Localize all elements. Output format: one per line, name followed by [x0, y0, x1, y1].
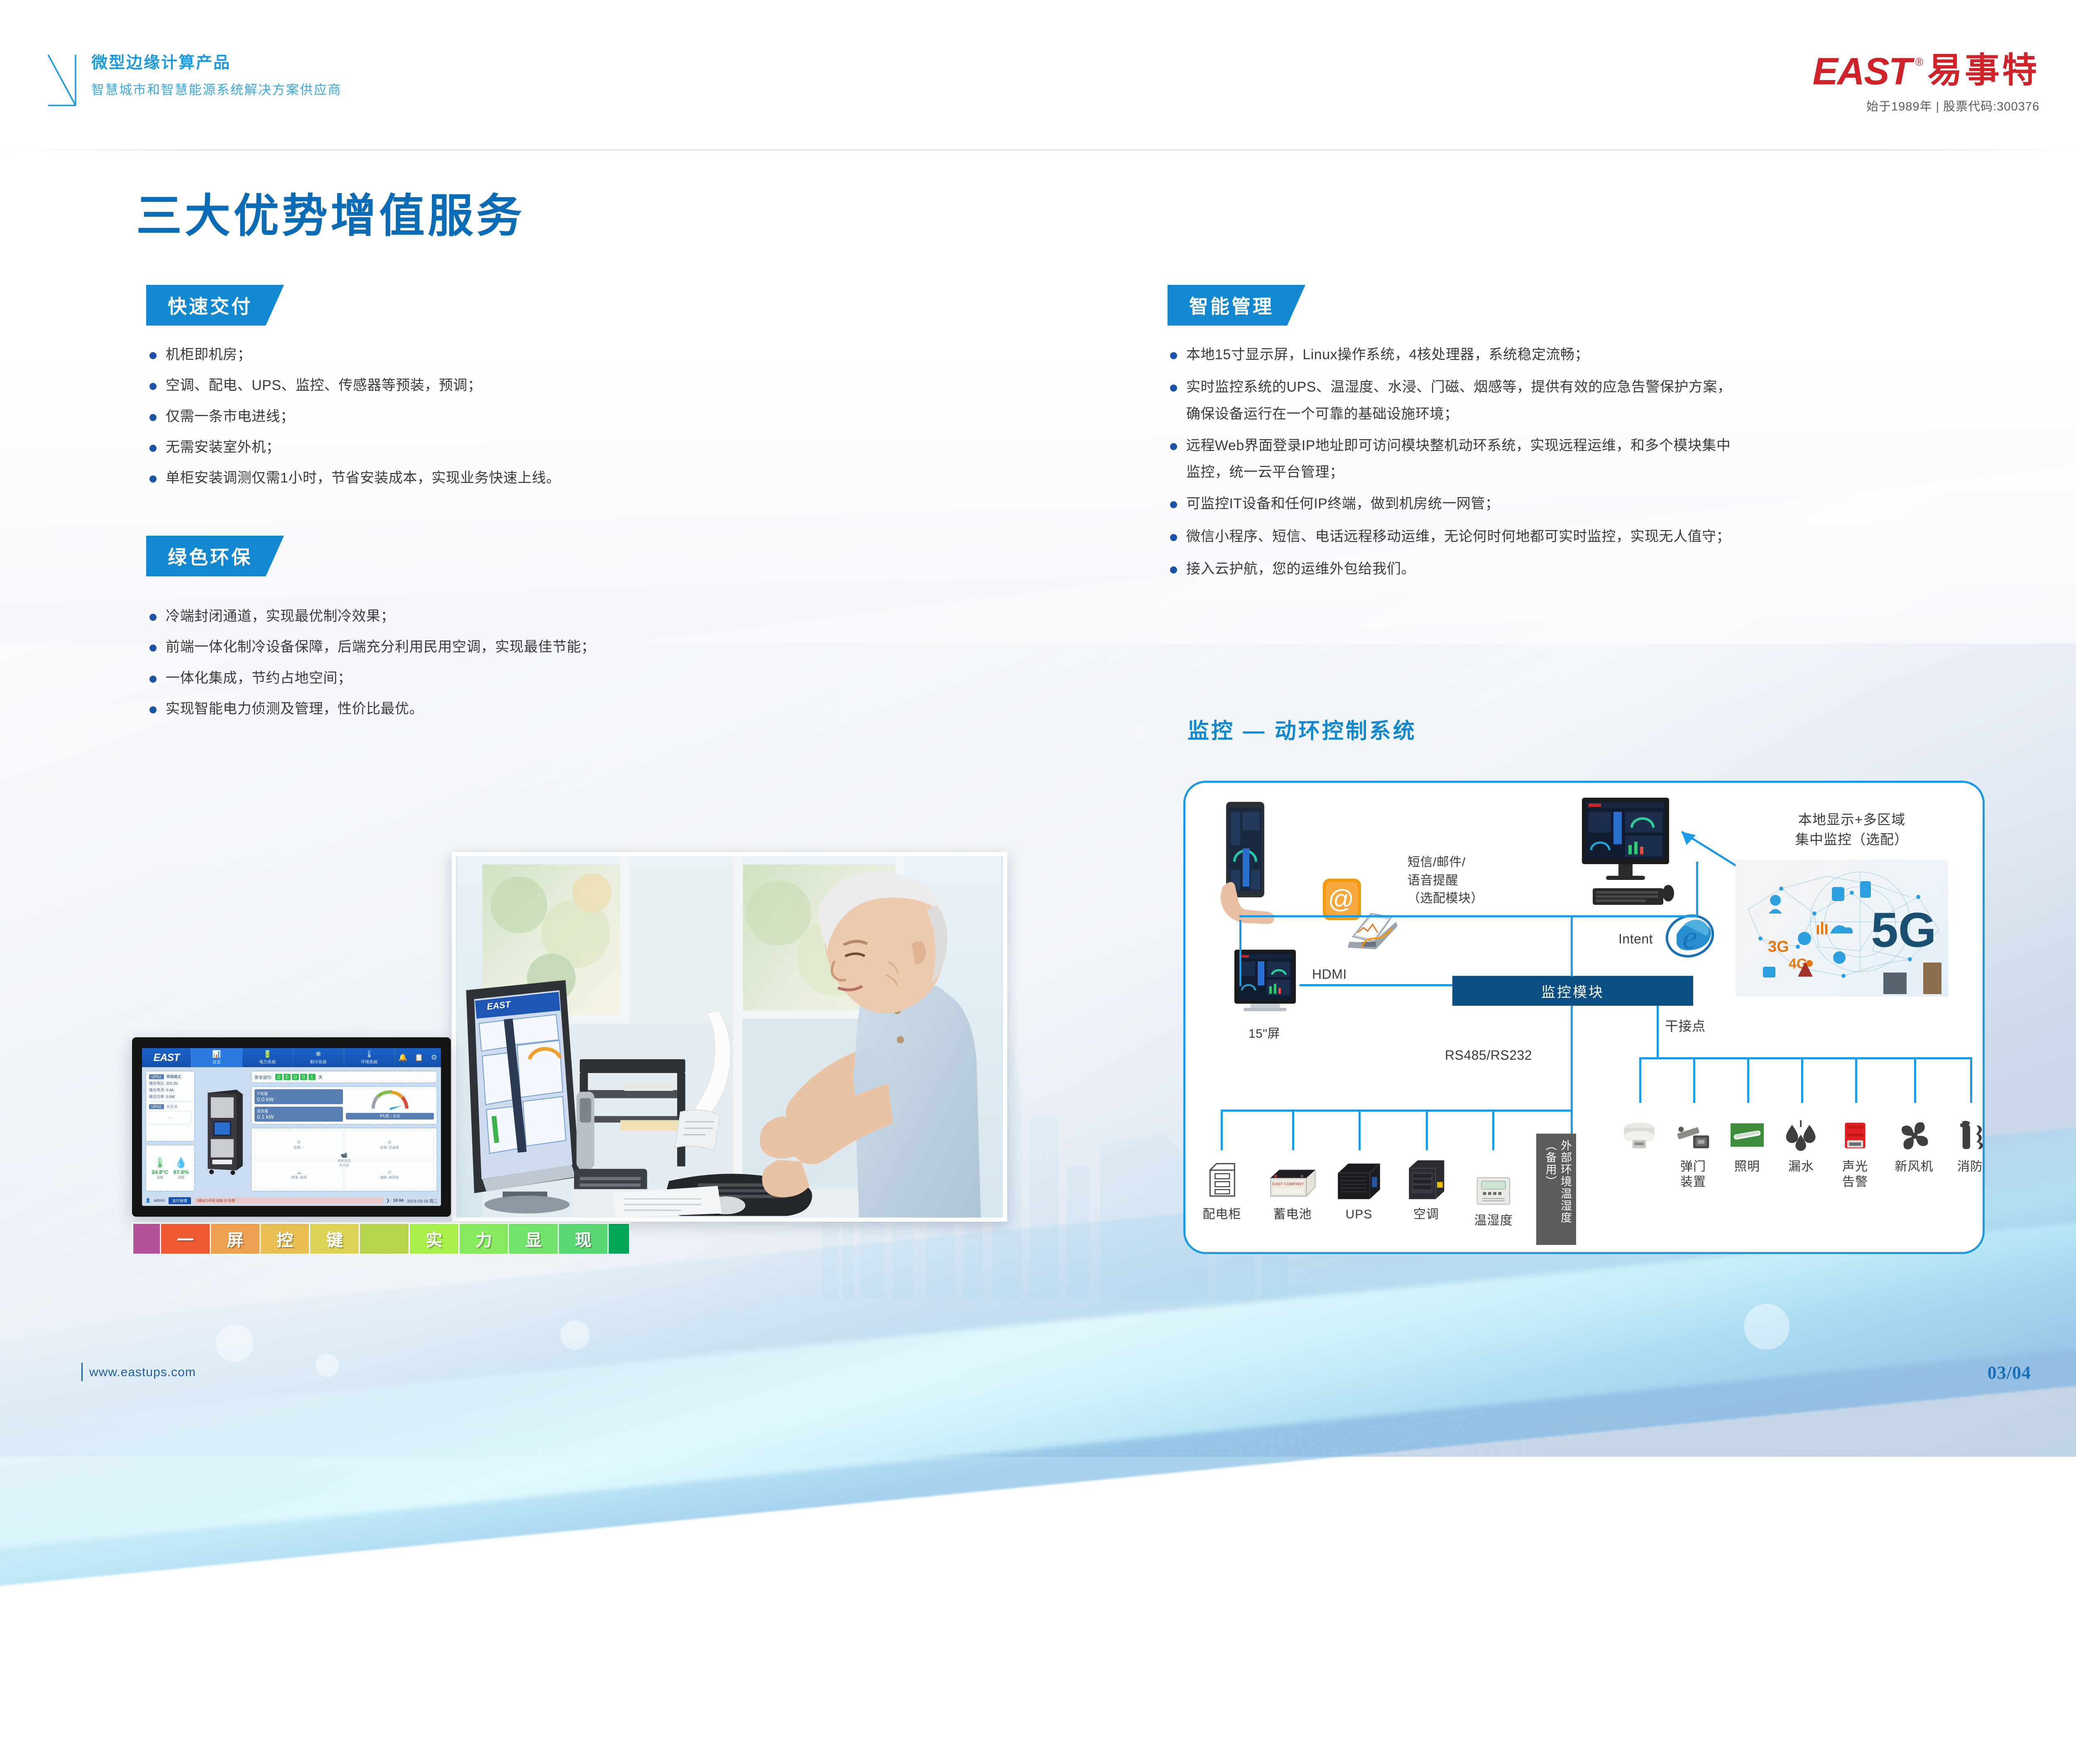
- rs485-drop-line: [1292, 1110, 1294, 1150]
- screen-size-label: 15"屏: [1231, 1026, 1297, 1043]
- colorbar-cell: 现: [559, 1224, 609, 1254]
- door-release-icon: [1667, 1105, 1719, 1154]
- list-smart-management: 本地15寸显示屏，Linux操作系统，4核处理器，系统稳定流畅； 实时监控系统的…: [1170, 345, 1868, 579]
- colorbar-cell: 力: [460, 1224, 509, 1254]
- list-item-text: 机柜即机房；: [166, 345, 252, 365]
- panel-tab-label: 环境系统: [361, 1058, 377, 1065]
- ups2-state: 未安装: [166, 1104, 178, 1109]
- device-label-l1: 弹门: [1667, 1159, 1719, 1175]
- panel-status-icons: 🔔 📋 ⚙: [394, 1048, 441, 1067]
- list-item-text: 微信小程序、短信、电话远程移动运维，无论何时何地都可实时监控，实现无人值守；: [1186, 527, 1731, 546]
- phone-connector-line: [1239, 920, 1241, 986]
- list-item-text: 一体化集成，节约占地空间；: [166, 668, 352, 688]
- power-icon: 🔋: [263, 1051, 272, 1058]
- notify-label-line2: 语音提醒: [1408, 872, 1484, 890]
- safe-run-label: 安全运行:: [255, 1074, 272, 1080]
- list-item-text-cont: 确保设备运行在一个可靠的基础设施环境；: [1170, 404, 1868, 424]
- dry-contact-label: 干接点: [1665, 1017, 1706, 1035]
- dry-drop-line: [1639, 1057, 1641, 1103]
- bullet-dot-icon: [149, 644, 157, 652]
- device-battery: EAST COMPANY 蓄电池: [1261, 1152, 1324, 1223]
- device-audible-alarm: 声光 告警: [1829, 1105, 1881, 1190]
- list-item: 冷端封闭通道，实现最优制冷效果；: [149, 606, 706, 626]
- bullet-dot-icon: [149, 352, 157, 359]
- panel-run-button[interactable]: 运行管理: [169, 1197, 191, 1204]
- dry-drop-line: [1747, 1057, 1749, 1103]
- tablet-screen-icon: [1227, 949, 1302, 1019]
- list-green-environment: 冷端封闭通道，实现最优制冷效果； 前端一体化制冷设备保障，后端充分利用民用空调，…: [149, 606, 706, 719]
- hdmi-connector-line: [1300, 984, 1453, 986]
- device-ups: UPS: [1328, 1152, 1390, 1223]
- list-item: 远程Web界面登录IP地址即可访问模块整机动环系统，实现远程运维，和多个模块集中…: [1170, 436, 1868, 483]
- panel-alert-text: 1路动力环境 线路 03 告警: [194, 1198, 383, 1204]
- panel-tab-label: 电力系统: [259, 1058, 276, 1065]
- ups2-chip: UPS2: [149, 1104, 164, 1109]
- monitoring-module-box: 监控模块: [1452, 976, 1693, 1006]
- device-water-leak: 漏水: [1775, 1105, 1827, 1175]
- header-brand-block: 微型边缘计算产品 智慧城市和智慧能源系统解决方案供应商: [46, 53, 342, 109]
- list-item-text: 远程Web界面登录IP地址即可访问模块整机动环系统，实现远程运维，和多个模块集中: [1186, 436, 1731, 456]
- rs485-trunk-line: [1571, 1006, 1573, 1111]
- list-item-text: 仅需一条市电进线；: [166, 407, 295, 426]
- dry-contact-trunk-line: [1657, 1006, 1659, 1059]
- svg-text:5G: 5G: [1871, 903, 1936, 958]
- cooling-icon: ❄: [297, 1139, 301, 1145]
- air-conditioner-icon: [1395, 1152, 1457, 1201]
- remote-note-line2: 集中监控（选配）: [1744, 830, 1960, 850]
- colorbar-cell: [133, 1224, 161, 1254]
- list-item-text: 可监控IT设备和任何IP终端，做到机房统一网管；: [1186, 494, 1499, 514]
- panel-user: admin: [154, 1198, 165, 1203]
- list-item-text: 实时监控系统的UPS、温湿度、水浸、门磁、烟感等，提供有效的应急告警保护方案，: [1186, 377, 1731, 397]
- ups2-placeholder-icon: ▭: [149, 1111, 191, 1124]
- panel-date: 2019-03-19 周二: [407, 1198, 438, 1204]
- ups1-chip: UPS1: [149, 1074, 164, 1079]
- rs485-drop-line: [1492, 1110, 1494, 1150]
- panel-time: 10:04: [393, 1198, 404, 1203]
- device-label: 消防: [1944, 1159, 1996, 1175]
- bullet-dot-icon: [1170, 534, 1177, 541]
- notify-label: 短信/邮件/ 语音提醒 （选配模块）: [1408, 853, 1484, 908]
- list-item: 仅需一条市电进线；: [149, 407, 706, 426]
- colorbar-cell: [360, 1224, 410, 1254]
- internet-explorer-icon: e: [1661, 905, 1719, 963]
- bullet-dot-icon: [149, 676, 157, 683]
- header-subtitle: 智慧城市和智慧能源系统解决方案供应商: [91, 79, 342, 98]
- page-number: 03/04: [1988, 1362, 2031, 1383]
- panel-top-nav: EAST 📊 总览 🔋 电力系统 ❄ 制冷系统 🌡 环境系统 🔔 📋 ⚙: [142, 1048, 441, 1067]
- office-photo: EAST: [452, 852, 1007, 1222]
- ups1-row: 输出电压: 215.0V: [149, 1080, 191, 1086]
- dry-drop-line: [1693, 1057, 1695, 1103]
- camera-icon: 📹: [338, 1152, 351, 1159]
- list-item: 一体化集成，节约占地空间；: [149, 668, 706, 688]
- slogan-color-bar: 一 屏 控 键 实 力 显 现: [132, 1223, 630, 1255]
- temperature-label: 温度: [152, 1175, 168, 1180]
- external-environment-box: 外部环境温湿度（备用）: [1536, 1134, 1576, 1245]
- device-lighting: 照明: [1721, 1105, 1773, 1175]
- module-top-line: [1571, 915, 1573, 977]
- panel-load-card: IT负载 0.0 kW 总负载 0.1 kW: [251, 1086, 437, 1125]
- header-title: 微型边缘计算产品: [91, 53, 342, 73]
- device-label: UPS: [1328, 1207, 1390, 1223]
- dry-contact-bus-line: [1639, 1057, 1971, 1059]
- temp-humidity-sensor-icon: [1462, 1159, 1525, 1208]
- list-item: 接入云护航，您的运维外包给我们。: [1170, 559, 1868, 579]
- hdmi-label: HDMI: [1312, 965, 1347, 983]
- east-logo-text: EAST: [1812, 54, 1911, 89]
- device-label: 蓄电池: [1261, 1207, 1324, 1223]
- lighting-icon: [1721, 1105, 1773, 1154]
- colorbar-cell: 一: [161, 1224, 211, 1254]
- ups1-row: 输出电流: 0.4A: [149, 1087, 191, 1093]
- bullet-dot-icon: [149, 414, 157, 421]
- humidity-drop-icon: 💧: [174, 1157, 189, 1169]
- notify-label-line3: （选配模块）: [1408, 889, 1484, 908]
- device-fresh-air-fan: 新风机: [1888, 1105, 1940, 1175]
- device-label: 弹门 装置: [1667, 1159, 1719, 1190]
- dehumidify-icon: ☁: [296, 1169, 301, 1175]
- audible-alarm-icon: [1829, 1105, 1881, 1154]
- device-label-l2: 告警: [1829, 1175, 1881, 1190]
- bullet-dot-icon: [1170, 566, 1177, 573]
- list-item: 可监控IT设备和任何IP终端，做到机房统一网管；: [1170, 494, 1868, 514]
- tag-fast-delivery: 快速交付: [146, 285, 284, 326]
- monitor-down-line: [1696, 862, 1698, 918]
- corner-bracket-icon: [46, 53, 79, 109]
- rs485-label: RS485/RS232: [1445, 1046, 1532, 1064]
- list-item: 本地15寸显示屏，Linux操作系统，4核处理器，系统稳定流畅；: [1170, 345, 1868, 365]
- phone-monitor-bus-line: [1239, 915, 1698, 917]
- thermometer-icon: 🌡: [152, 1157, 168, 1169]
- bullet-dot-icon: [149, 445, 157, 452]
- rs485-drop-line: [1571, 1110, 1573, 1134]
- footer-url[interactable]: www.eastups.com: [89, 1365, 196, 1379]
- device-smoke-detector: [1613, 1105, 1665, 1159]
- list-item: 实现智能电力侦测及管理，性价比最优。: [149, 699, 706, 719]
- bullet-dot-icon: [1170, 501, 1177, 508]
- panel-tab-cooling[interactable]: ❄ 制冷系统: [293, 1048, 344, 1067]
- user-avatar-icon: 👤: [145, 1198, 150, 1203]
- colorbar-cell: 键: [310, 1224, 360, 1254]
- device-label: 配电柜: [1191, 1207, 1253, 1223]
- bullet-dot-icon: [149, 614, 157, 621]
- water-leak-icon: [1775, 1105, 1827, 1154]
- list-item-text: 无需安装室外机；: [166, 437, 280, 457]
- list-item-text-cont: 监控，统一云平台管理；: [1170, 462, 1868, 482]
- list-item: 实时监控系统的UPS、温湿度、水浸、门磁、烟感等，提供有效的应急告警保护方案， …: [1170, 377, 1868, 424]
- list-item: 单柜安装调测仅需1小时，节省安装成本，实现业务快速上线。: [149, 468, 706, 488]
- colorbar-cell: 控: [261, 1224, 311, 1254]
- panel-left-column: UPS1 旁路模式 输出电压: 215.0V 输出电流: 0.4A 输出功率: …: [146, 1071, 195, 1191]
- panel-ups-card: UPS1 旁路模式 输出电压: 215.0V 输出电流: 0.4A 输出功率: …: [146, 1071, 195, 1142]
- tag-smart-management: 智能管理: [1168, 285, 1305, 326]
- pue-value: PUE : 0.0: [346, 1113, 434, 1120]
- list-item-text: 冷端封闭通道，实现最优制冷效果；: [166, 606, 395, 626]
- external-box-line1: 外部环境: [1559, 1139, 1572, 1188]
- device-label: 漏水: [1775, 1159, 1827, 1175]
- notify-label-line1: 短信/邮件/: [1408, 853, 1484, 872]
- panel-tab-label: 总览: [213, 1058, 221, 1065]
- ups1-row: 输出功率: 0.0W: [149, 1094, 191, 1099]
- registered-trademark-icon: ®: [1915, 56, 1923, 69]
- video-monitor-label: 视频监控: [338, 1159, 351, 1163]
- list-item-text: 接入云护航，您的运维外包给我们。: [1186, 559, 1415, 579]
- battery-icon: EAST COMPANY: [1261, 1152, 1324, 1201]
- list-item-text: 实现智能电力侦测及管理，性价比最优。: [166, 699, 424, 719]
- panel-env-card: 🌡 24.8°C 温度 💧 67.6% 湿度: [146, 1145, 195, 1191]
- device-label: 温湿度: [1462, 1213, 1525, 1229]
- dry-drop-line: [1801, 1057, 1803, 1103]
- bullet-dot-icon: [149, 475, 157, 483]
- panel-cabinet-image: [198, 1071, 248, 1191]
- device-temp-humidity: 温湿度: [1462, 1159, 1525, 1229]
- svg-text:EAST COMPANY: EAST COMPANY: [1272, 1182, 1304, 1186]
- video-monitor-state: 未开启: [338, 1163, 351, 1168]
- total-load-label: 总负载: [257, 1108, 340, 1114]
- device-door-release: 弹门 装置: [1667, 1105, 1719, 1190]
- fan-icon: ✲: [387, 1139, 392, 1145]
- fire-extinguisher-icon: [1944, 1105, 1996, 1154]
- it-load-value: 0.0 kW: [257, 1096, 340, 1102]
- bullet-dot-icon: [149, 706, 157, 713]
- overview-icon: 📊: [212, 1051, 221, 1058]
- dry-drop-line: [1914, 1057, 1916, 1103]
- device-label-l2: 装置: [1667, 1175, 1719, 1190]
- panel-status-bar: 👤 admin 运行管理 1路动力环境 线路 03 告警 ❯ 10:04 201…: [142, 1195, 441, 1206]
- header-divider: [0, 149, 2076, 150]
- dry-drop-line: [1855, 1057, 1857, 1103]
- device-distribution-cabinet: 配电柜: [1191, 1152, 1253, 1223]
- panel-right-column: 安全运行: 00 00 1 天 IT负载 0.0 kW: [251, 1071, 437, 1191]
- humidity-value: 67.6%: [174, 1169, 189, 1175]
- ups1-mode: 旁路模式: [166, 1074, 181, 1079]
- footer-divider: [81, 1363, 83, 1381]
- safe-run-unit: 天: [318, 1074, 323, 1080]
- colorbar-cell: [609, 1224, 629, 1254]
- panel-logo: EAST: [142, 1048, 191, 1067]
- safe-run-digits: 00 00 1: [275, 1074, 316, 1080]
- panel-body: UPS1 旁路模式 输出电压: 215.0V 输出电流: 0.4A 输出功率: …: [142, 1067, 441, 1195]
- cooling-icon: ❄: [316, 1051, 321, 1058]
- it-load-label: IT负载: [257, 1091, 340, 1096]
- bokeh-circle: [1129, 723, 1146, 739]
- list-item: 无需安装室外机；: [149, 437, 706, 457]
- settings-gear-icon[interactable]: ⚙: [431, 1053, 437, 1062]
- panel-screen: EAST 📊 总览 🔋 电力系统 ❄ 制冷系统 🌡 环境系统 🔔 📋 ⚙: [142, 1048, 441, 1206]
- list-fast-delivery: 机柜即机房； 空调、配电、UPS、监控、传感器等预装，预调； 仅需一条市电进线；…: [149, 345, 706, 488]
- list-item-text: 空调、配电、UPS、监控、传感器等预装，预调；: [166, 375, 482, 395]
- fresh-air-fan-icon: [1888, 1105, 1940, 1154]
- device-fire-extinguisher: 消防: [1944, 1105, 1996, 1175]
- device-label: 空调: [1395, 1207, 1457, 1223]
- panel-tab-environment[interactable]: 🌡 环境系统: [344, 1048, 395, 1067]
- colorbar-cell: 实: [410, 1224, 460, 1254]
- svg-text:3: 3: [404, 1095, 405, 1098]
- humidity-label: 湿度: [174, 1175, 189, 1180]
- page-title: 三大优势增值服务: [136, 179, 525, 245]
- colorbar-cell: 显: [509, 1224, 559, 1254]
- list-item: 机柜即机房；: [149, 345, 706, 365]
- rs485-drop-line: [1426, 1110, 1428, 1150]
- tag-green-environment: 绿色环保: [146, 536, 284, 576]
- environment-icon: 🌡: [365, 1051, 374, 1058]
- list-item: 微信小程序、短信、电话远程移动运维，无论何时何地都可实时监控，实现无人值守；: [1170, 527, 1868, 546]
- rs485-bus-line: [1221, 1110, 1573, 1112]
- panel-tab-overview[interactable]: 📊 总览: [191, 1048, 242, 1067]
- list-item: 空调、配电、UPS、监控、传感器等预装，预调；: [149, 375, 706, 395]
- bullet-dot-icon: [149, 383, 157, 390]
- svg-text:1: 1: [379, 1094, 381, 1097]
- smoke-detector-icon: [1613, 1105, 1665, 1154]
- list-item-text: 前端一体化制冷设备保障，后端充分利用民用空调，实现最佳节能；: [166, 637, 595, 657]
- bullet-dot-icon: [1170, 385, 1177, 392]
- east-touch-panel: EAST 📊 总览 🔋 电力系统 ❄ 制冷系统 🌡 环境系统 🔔 📋 ⚙: [132, 1037, 451, 1217]
- device-air-conditioner: 空调: [1395, 1152, 1457, 1223]
- panel-env-control-card: ❄ 空调: -- ✲ 应急: 已关闭 ☁ 除湿: 关闭 ≋ 加热: 未开启: [251, 1128, 437, 1191]
- rs485-drop-line: [1359, 1110, 1361, 1150]
- bullet-dot-icon: [1170, 443, 1177, 450]
- east-logo-chinese: 易事特: [1927, 54, 2039, 87]
- pue-gauge-icon: 1 2 3: [346, 1089, 434, 1111]
- list-item-text: 本地15寸显示屏，Linux操作系统，4核处理器，系统稳定流畅；: [1186, 345, 1589, 365]
- diagram-title: 监控 — 动环控制系统: [1187, 713, 1417, 745]
- network-5g-image: 5G 3G 4G: [1736, 860, 1948, 997]
- ups-icon: [1328, 1152, 1390, 1201]
- panel-next-icon[interactable]: ❯: [386, 1198, 389, 1203]
- alarm-bell-icon[interactable]: 🔔: [399, 1053, 407, 1062]
- list-item: 前端一体化制冷设备保障，后端充分利用民用空调，实现最佳节能；: [149, 637, 706, 657]
- total-load-value: 0.1 kW: [257, 1114, 340, 1120]
- remote-note-line1: 本地显示+多区域: [1744, 810, 1960, 830]
- internet-label: Intent: [1618, 930, 1653, 948]
- device-label-l1: 声光: [1829, 1159, 1881, 1175]
- dry-drop-line: [1970, 1057, 1972, 1103]
- distribution-cabinet-icon: [1191, 1152, 1253, 1201]
- svg-text:2: 2: [390, 1089, 392, 1092]
- bullet-dot-icon: [1170, 352, 1177, 359]
- svg-text:e: e: [1682, 919, 1697, 956]
- header-logo-block: EAST ® 易事特 始于1989年 | 股票代码:300376: [1812, 54, 2039, 114]
- panel-tab-power[interactable]: 🔋 电力系统: [242, 1048, 293, 1067]
- colorbar-cell: 屏: [211, 1224, 261, 1254]
- logo-caption: 始于1989年 | 股票代码:300376: [1812, 97, 2039, 114]
- list-item-text: 单柜安装调测仅需1小时，节省安装成本，实现业务快速上线。: [166, 468, 561, 488]
- panel-safe-run-card: 安全运行: 00 00 1 天: [251, 1071, 437, 1083]
- svg-text:3G: 3G: [1768, 938, 1789, 955]
- remote-monitor-note: 本地显示+多区域 集中监控（选配）: [1744, 810, 1960, 850]
- rs485-drop-line: [1221, 1110, 1223, 1150]
- log-icon[interactable]: 📋: [415, 1053, 424, 1062]
- device-label: 声光 告警: [1829, 1159, 1881, 1190]
- panel-tab-label: 制冷系统: [310, 1058, 327, 1065]
- device-label: 照明: [1721, 1159, 1773, 1175]
- heater-icon: ≋: [387, 1169, 392, 1175]
- device-label: 新风机: [1888, 1159, 1940, 1175]
- temperature-value: 24.8°C: [152, 1169, 168, 1175]
